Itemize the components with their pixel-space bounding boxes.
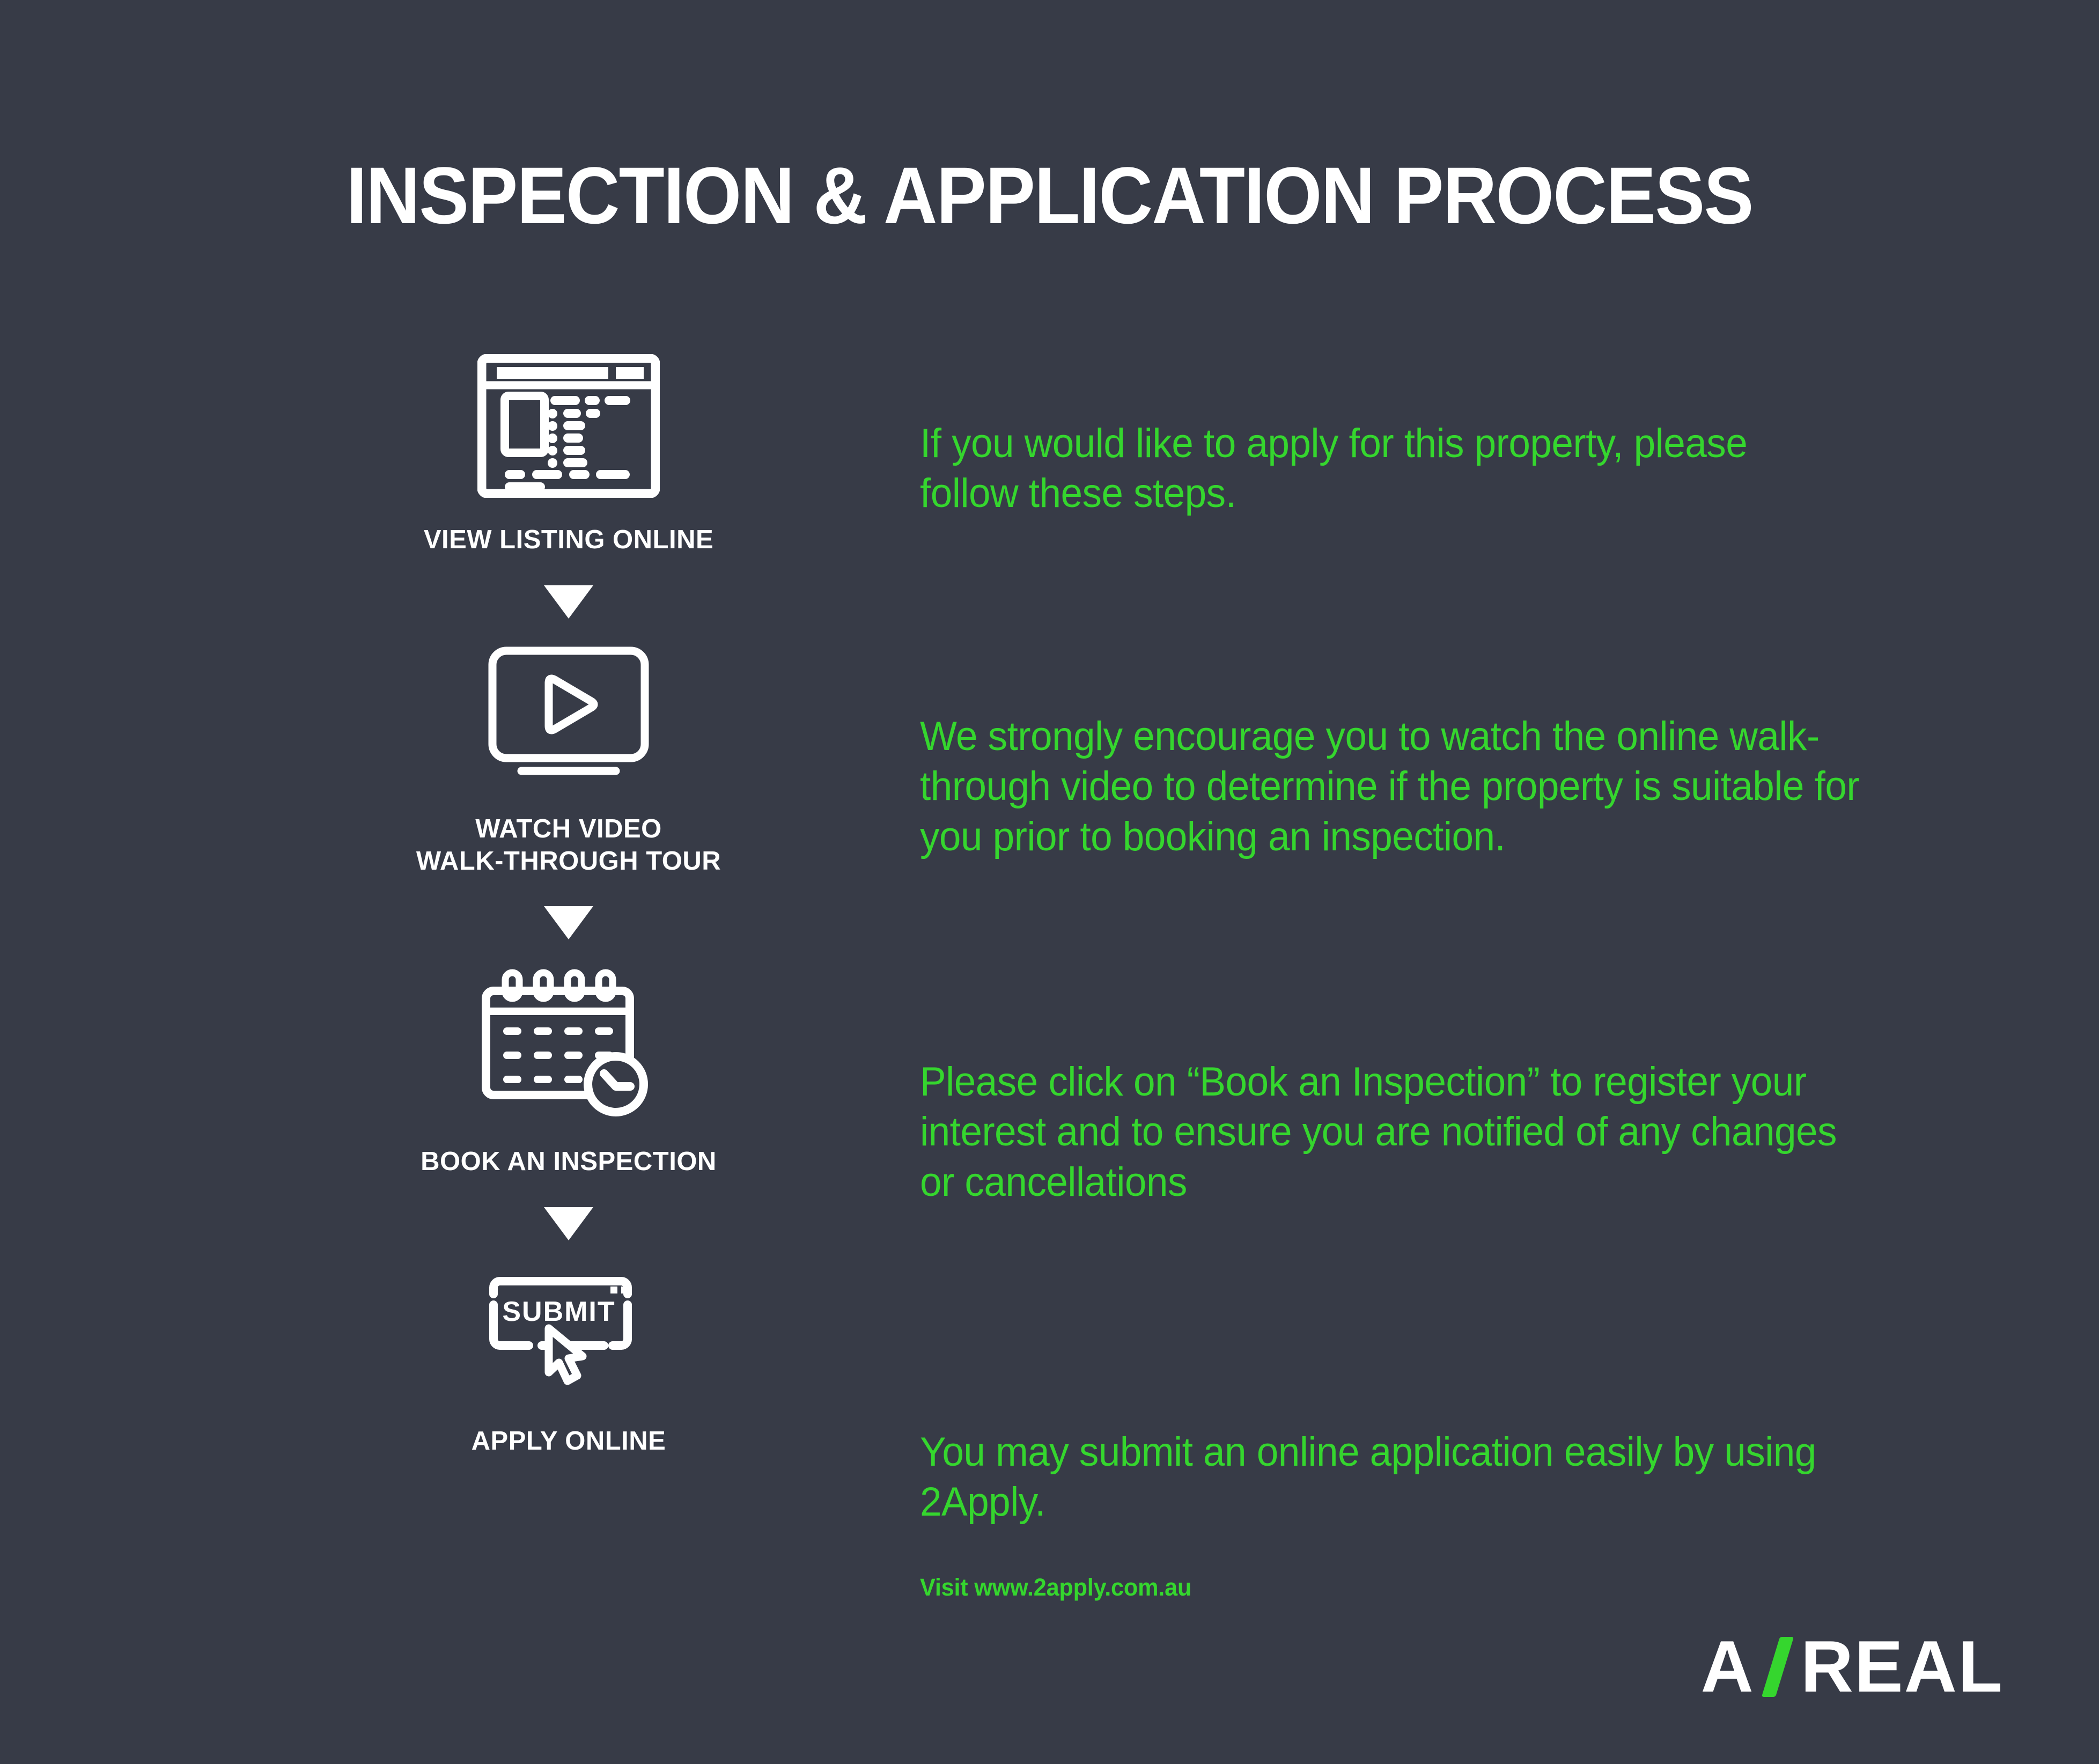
page-title: INSPECTION & APPLICATION PROCESS bbox=[73, 153, 2026, 238]
slash-icon bbox=[1763, 1637, 1795, 1696]
visit-link[interactable]: Visit www.2apply.com.au bbox=[920, 1574, 1191, 1601]
logo-word-real: REAL bbox=[1801, 1630, 2004, 1703]
calendar-clock-icon bbox=[477, 964, 660, 1122]
process-steps-column: VIEW LISTING ONLINE WATCH VIDEO WALK-THR… bbox=[252, 354, 885, 1458]
triangle-down-icon bbox=[544, 906, 593, 939]
triangle-down-icon bbox=[544, 585, 593, 619]
visit-link-wrap[interactable]: Visit www.2apply.com.au bbox=[920, 1574, 1203, 1601]
step-label-book-inspection: BOOK AN INSPECTION bbox=[421, 1146, 717, 1178]
brand-logo: A REAL bbox=[1701, 1630, 2004, 1703]
step-apply-online: SUBMIT APPLY ONLINE bbox=[252, 1265, 885, 1458]
note-book-inspection: Please click on “Book an Inspection” to … bbox=[920, 1057, 1847, 1207]
step-label-apply-online: APPLY ONLINE bbox=[472, 1425, 666, 1458]
video-play-monitor-icon bbox=[477, 643, 660, 790]
submit-button-cursor-icon: SUBMIT bbox=[477, 1265, 660, 1402]
note-apply-steps: If you would like to apply for this prop… bbox=[920, 418, 1764, 519]
svg-text:SUBMIT: SUBMIT bbox=[502, 1296, 615, 1327]
infographic-poster: INSPECTION & APPLICATION PROCESS bbox=[0, 0, 2099, 1764]
note-watch-video: We strongly encourage you to watch the o… bbox=[920, 711, 1883, 862]
step-watch-video: WATCH VIDEO WALK-THROUGH TOUR bbox=[252, 643, 885, 878]
logo-letter-a: A bbox=[1701, 1630, 1755, 1703]
step-view-listing: VIEW LISTING ONLINE bbox=[252, 354, 885, 556]
step-book-inspection: BOOK AN INSPECTION bbox=[252, 964, 885, 1178]
step-label-view-listing: VIEW LISTING ONLINE bbox=[424, 524, 713, 556]
note-apply-online: You may submit an online application eas… bbox=[920, 1427, 1827, 1527]
step-label-watch-video: WATCH VIDEO WALK-THROUGH TOUR bbox=[416, 813, 721, 878]
browser-listing-icon bbox=[477, 354, 660, 501]
triangle-down-icon bbox=[544, 1207, 593, 1240]
